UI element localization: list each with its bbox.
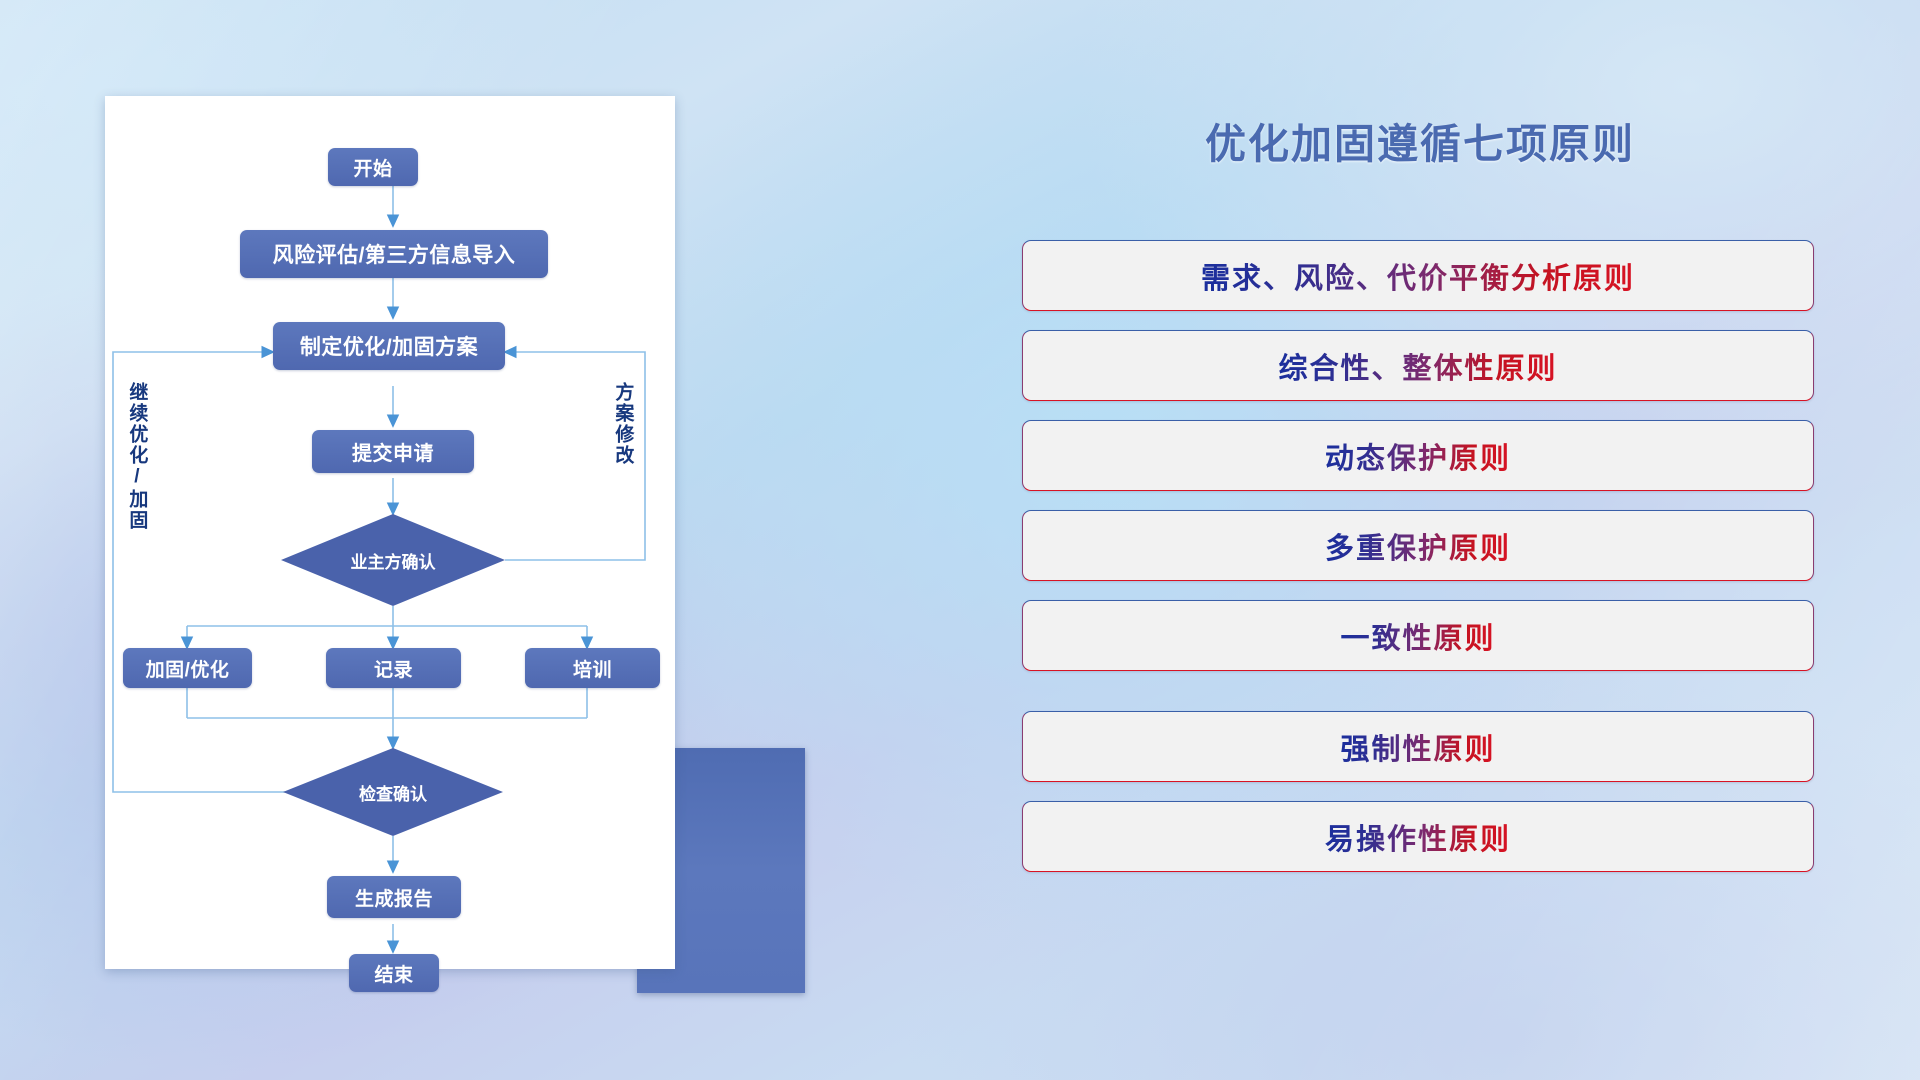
flow-node-risk-assessment[interactable]: 风险评估/第三方信息导入	[240, 230, 548, 278]
principle-item-5[interactable]: 一致性原则	[1022, 600, 1814, 671]
principle-item-4[interactable]: 多重保护原则	[1022, 510, 1814, 581]
principle-item-3[interactable]: 动态保护原则	[1022, 420, 1814, 491]
flow-node-start[interactable]: 开始	[328, 148, 418, 186]
principle-label: 综合性、整体性原则	[1278, 345, 1557, 387]
flow-node-label: 结束	[374, 960, 413, 987]
flow-node-submit-application[interactable]: 提交申请	[312, 430, 474, 473]
flow-edge-label-continue-optimize: 继续优化/加固	[127, 382, 146, 531]
flow-node-label: 制定优化/加固方案	[300, 331, 478, 361]
principle-label: 易操作性原则	[1325, 816, 1511, 858]
principle-label: 需求、风险、代价平衡分析原则	[1201, 255, 1635, 297]
flow-node-reinforce-optimize[interactable]: 加固/优化	[123, 648, 252, 688]
flowchart-card: 开始 风险评估/第三方信息导入 制定优化/加固方案 提交申请 业主方确认 加固/…	[105, 96, 675, 969]
principle-label: 动态保护原则	[1325, 435, 1511, 477]
flow-node-generate-report[interactable]: 生成报告	[327, 876, 461, 918]
flow-node-label: 风险评估/第三方信息导入	[273, 239, 516, 269]
flow-node-end[interactable]: 结束	[349, 954, 439, 992]
principle-label: 一致性原则	[1340, 615, 1495, 657]
flow-node-label: 培训	[573, 655, 612, 682]
principle-item-6[interactable]: 强制性原则	[1022, 711, 1814, 782]
flow-node-label: 加固/优化	[146, 655, 230, 682]
flow-node-training[interactable]: 培训	[525, 648, 660, 688]
flow-node-plan[interactable]: 制定优化/加固方案	[273, 322, 505, 370]
flow-node-label: 开始	[353, 154, 392, 181]
page-title: 优化加固遵循七项原则	[1020, 110, 1820, 170]
flow-node-label: 生成报告	[355, 884, 433, 911]
principle-item-2[interactable]: 综合性、整体性原则	[1022, 330, 1814, 401]
principle-label: 多重保护原则	[1325, 525, 1511, 567]
principles-panel: 优化加固遵循七项原则 需求、风险、代价平衡分析原则 综合性、整体性原则 动态保护…	[1020, 80, 1820, 1020]
flow-node-label: 记录	[374, 655, 413, 682]
principle-label: 强制性原则	[1340, 726, 1495, 768]
flow-node-record[interactable]: 记录	[326, 648, 461, 688]
principle-item-1[interactable]: 需求、风险、代价平衡分析原则	[1022, 240, 1814, 311]
flow-node-label: 提交申请	[352, 437, 434, 466]
principle-item-7[interactable]: 易操作性原则	[1022, 801, 1814, 872]
flow-node-label: 检查确认	[359, 780, 427, 805]
flow-node-label: 业主方确认	[351, 548, 436, 573]
flow-edge-label-plan-revision: 方案修改	[613, 382, 632, 466]
